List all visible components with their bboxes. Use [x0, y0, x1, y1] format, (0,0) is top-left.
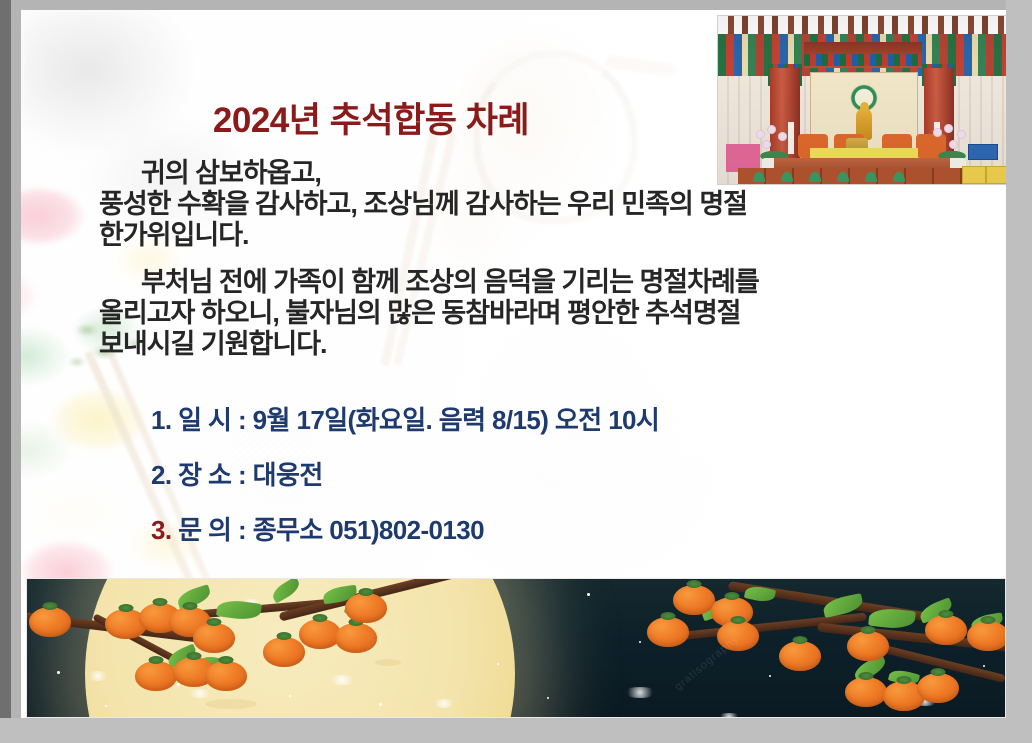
- frame-edge-left-dark: [0, 0, 11, 743]
- paragraph2-line-1: 부처님 전에 가족이 함께 조상의 음덕을 기리는 명절차례를: [99, 267, 909, 298]
- poster-page: 2024년 추석합동 차례 귀의 삼보하옵고, 풍성한 수확을 감사하고, 조상…: [21, 10, 1006, 718]
- info-item-datetime: 1. 일 시 : 9월 17일(화요일. 음력 8/15) 오전 10시: [151, 400, 659, 437]
- frame-edge-top: [0, 0, 1032, 10]
- info-item-location: 2. 장 소 : 대웅전: [151, 455, 659, 492]
- paragraph2-line-3: 보내시길 기원합니다.: [99, 329, 909, 360]
- persimmon-fruit: [967, 621, 1006, 651]
- persimmon-fruit: [345, 593, 387, 623]
- info-item-contact-label: 문 의 :: [178, 515, 246, 545]
- persimmon-fruit: [263, 637, 305, 667]
- persimmon-fruit: [647, 617, 689, 647]
- info-item-contact-value: 종무소 051)802-0130: [253, 515, 484, 545]
- persimmon-fruit: [193, 623, 235, 653]
- body-text-block: 귀의 삼보하옵고, 풍성한 수확을 감사하고, 조상님께 감사하는 우리 민족의…: [99, 158, 909, 360]
- poster-outer-frame: 2024년 추석합동 차례 귀의 삼보하옵고, 풍성한 수확을 감사하고, 조상…: [0, 0, 1032, 743]
- persimmon-fruit: [847, 631, 889, 661]
- persimmon-fruit: [917, 673, 959, 703]
- persimmon-fruit: [925, 615, 967, 645]
- frame-edge-right: [1006, 0, 1032, 743]
- paragraph1-line-1: 귀의 삼보하옵고,: [99, 158, 909, 189]
- persimmon-fruit: [845, 677, 887, 707]
- paragraph1-line-3: 한가위입니다.: [99, 220, 909, 251]
- persimmon-fruit: [135, 661, 177, 691]
- page-title: 2024년 추석합동 차례: [21, 92, 721, 143]
- persimmon-fruit: [779, 641, 821, 671]
- moon-persimmon-banner: gratisography gratisography: [26, 578, 1006, 718]
- persimmon-fruit: [205, 661, 247, 691]
- info-item-contact: 3. 문 의 : 종무소 051)802-0130: [151, 510, 659, 547]
- info-list: 1. 일 시 : 9월 17일(화요일. 음력 8/15) 오전 10시 2. …: [151, 400, 659, 565]
- info-item-contact-number: 3.: [151, 515, 171, 545]
- paragraph-spacer: [99, 251, 909, 267]
- frame-edge-left-light: [11, 0, 21, 743]
- persimmon-fruit: [29, 607, 71, 637]
- paragraph1-line-2: 풍성한 수확을 감사하고, 조상님께 감사하는 우리 민족의 명절: [99, 189, 909, 220]
- paragraph2-line-2: 올리고자 하오니, 불자님의 많은 동참바라며 평안한 추석명절: [99, 298, 909, 329]
- persimmon-fruit: [673, 585, 715, 615]
- frame-edge-bottom: [0, 718, 1032, 743]
